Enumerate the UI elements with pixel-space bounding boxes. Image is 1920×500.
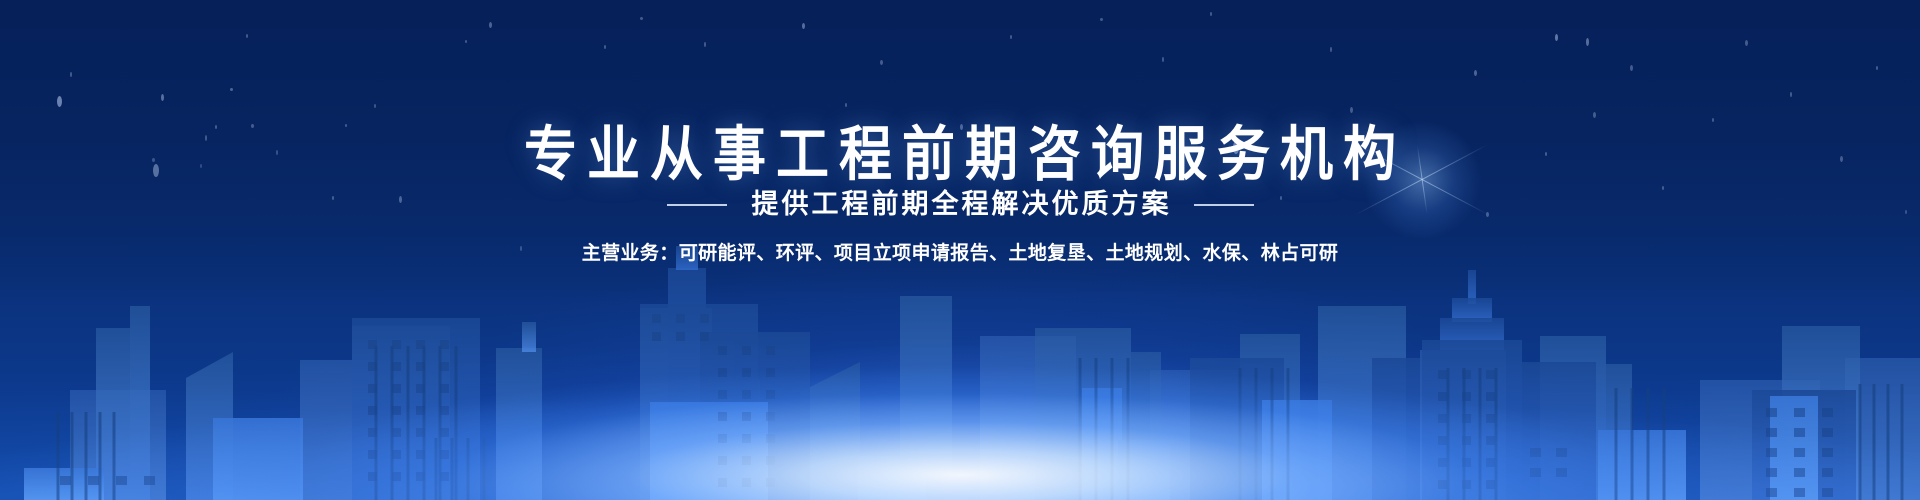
- hero-business-scope: 主营业务：可研能评、环评、项目立项申请报告、土地复垦、土地规划、水保、林占可研: [0, 244, 1920, 263]
- divider-dash-right: [1194, 204, 1254, 206]
- hero-banner: 专业从事工程前期咨询服务机构 提供工程前期全程解决优质方案 主营业务：可研能评、…: [0, 0, 1920, 500]
- city-skyline: [0, 240, 1920, 500]
- divider-dash-left: [667, 204, 727, 206]
- hero-subtitle-row: 提供工程前期全程解决优质方案: [0, 191, 1920, 218]
- hero-title: 专业从事工程前期咨询服务机构: [0, 0, 1920, 185]
- hero-content: 专业从事工程前期咨询服务机构 提供工程前期全程解决优质方案 主营业务：可研能评、…: [0, 0, 1920, 263]
- hero-subtitle: 提供工程前期全程解决优质方案: [749, 191, 1172, 218]
